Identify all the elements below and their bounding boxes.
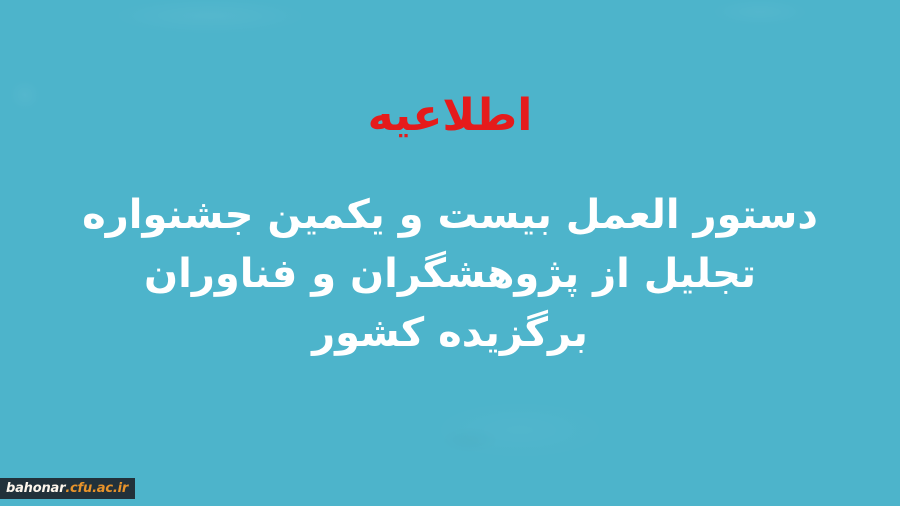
announcement-poster: اطلاعیه دستور العمل بیست و یکمین جشنواره… (0, 0, 900, 506)
announcement-line-3: برگزیده کشور (40, 304, 860, 363)
watermark-site-name: bahonar (6, 482, 65, 495)
notice-heading: اطلاعیه (0, 88, 900, 143)
poster-content: اطلاعیه دستور العمل بیست و یکمین جشنواره… (0, 0, 900, 506)
site-watermark[interactable]: bahonar .cfu.ac.ir (0, 478, 135, 499)
announcement-line-1: دستور العمل بیست و یکمین جشنواره (40, 186, 860, 245)
watermark-site-domain: .cfu.ac.ir (65, 482, 128, 495)
announcement-line-2: تجلیل از پژوهشگران و فناوران (40, 245, 860, 304)
announcement-body: دستور العمل بیست و یکمین جشنواره تجلیل ا… (40, 186, 860, 364)
